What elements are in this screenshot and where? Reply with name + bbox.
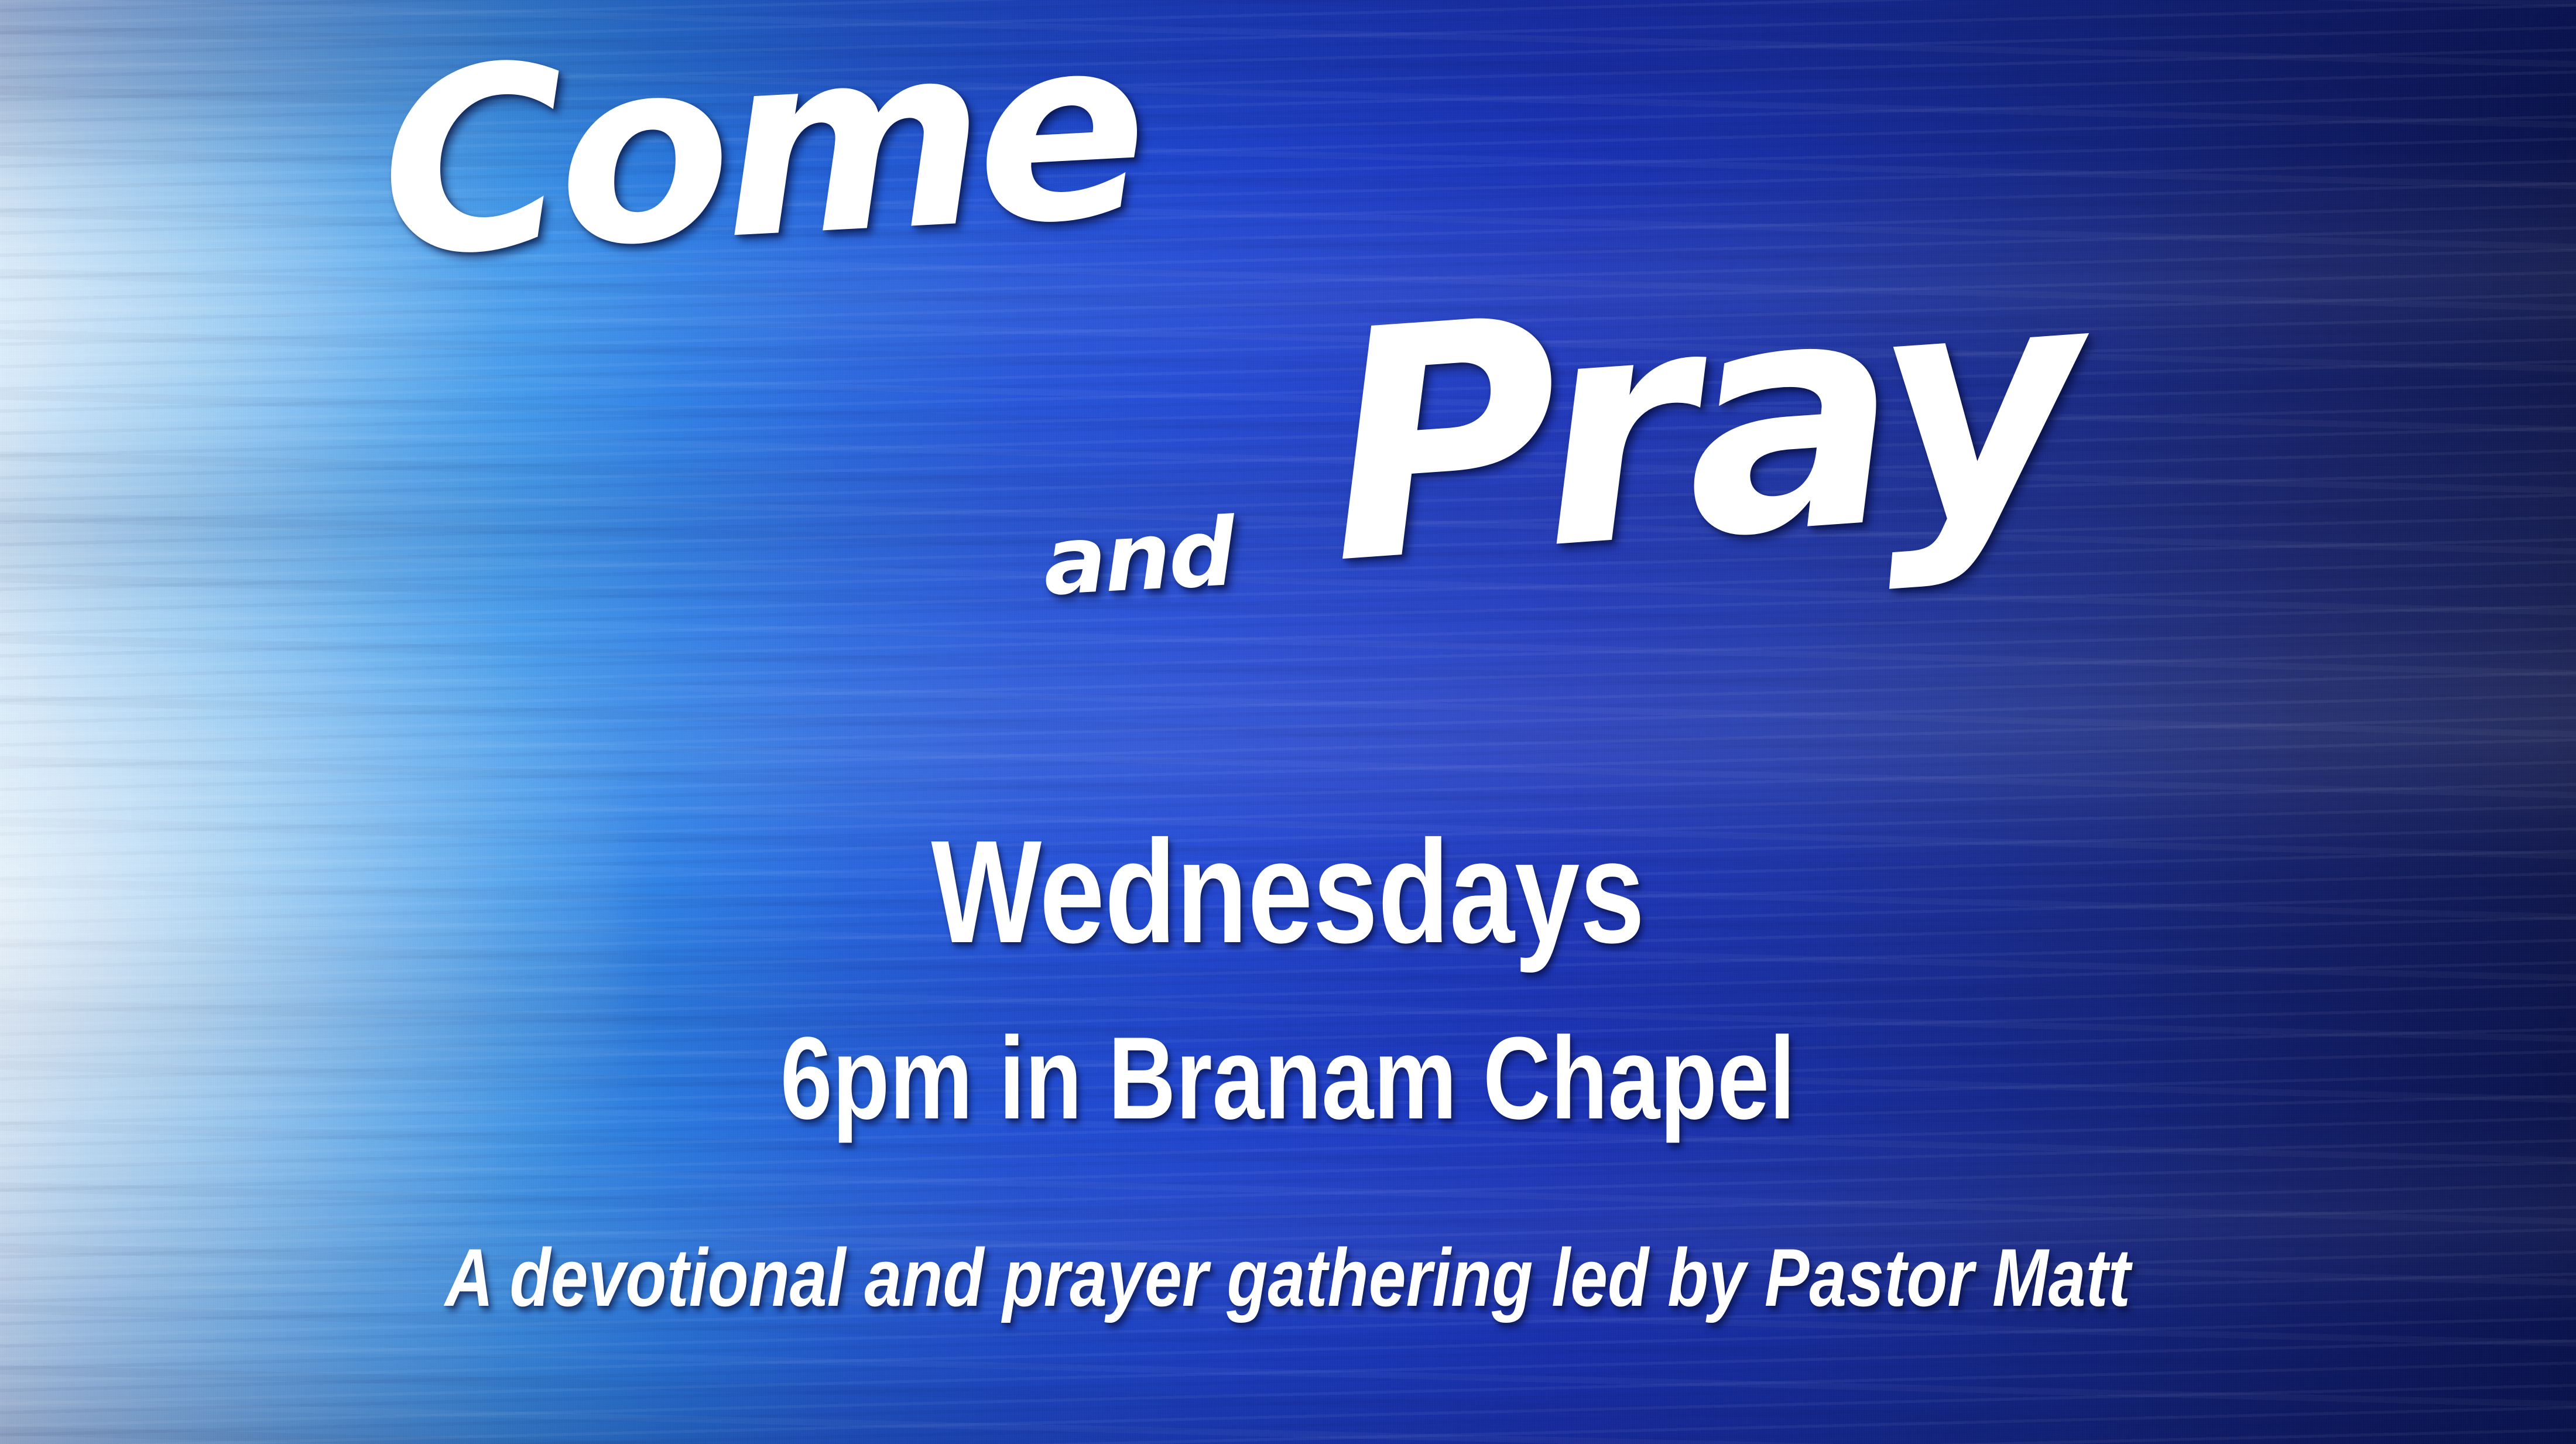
title-word-come: Come xyxy=(375,1,1145,292)
event-time-location-line: 6pm in Branam Chapel xyxy=(0,1020,2576,1137)
event-description-line: A devotional and prayer gathering led by… xyxy=(0,1237,2576,1319)
event-day-line: Wednesdays xyxy=(0,819,2576,965)
event-flyer: Come and Pray Wednesdays 6pm in Branam C… xyxy=(0,0,2576,1444)
title-word-pray: Pray xyxy=(1317,241,2083,608)
event-day-text: Wednesdays xyxy=(931,819,1645,965)
title-word-and: and xyxy=(1041,505,1235,609)
event-time-location-text: 6pm in Branam Chapel xyxy=(780,1020,1796,1137)
flyer-content: Come and Pray Wednesdays 6pm in Branam C… xyxy=(0,0,2576,1444)
event-description-text: A devotional and prayer gathering led by… xyxy=(445,1237,2130,1319)
